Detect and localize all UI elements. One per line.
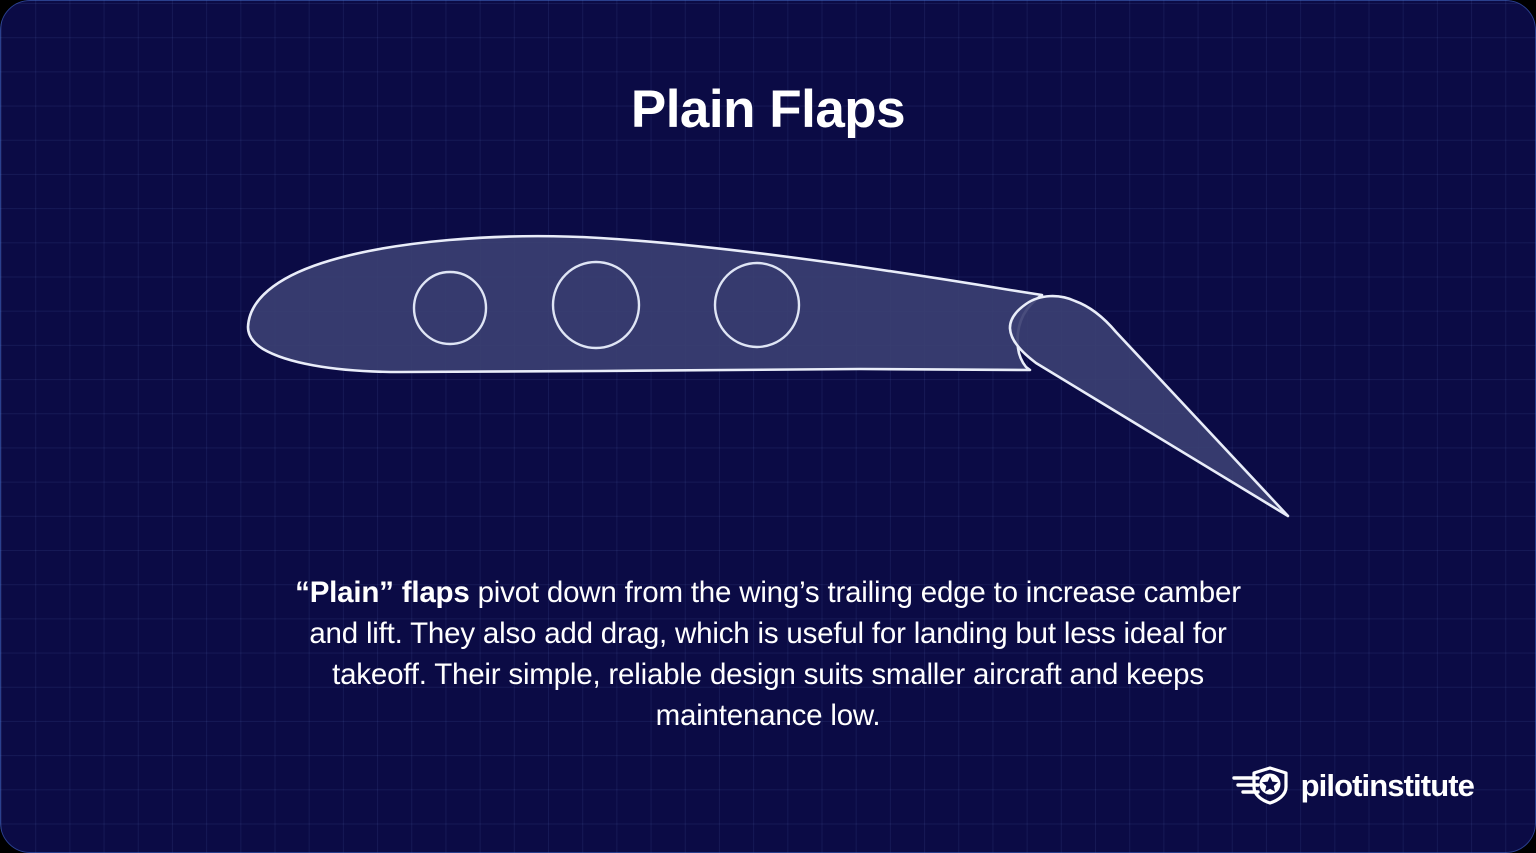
description-text: “Plain” flaps pivot down from the wing’s… [268,572,1268,736]
lightening-hole-2 [553,262,639,348]
lightening-hole-3 [715,263,799,347]
brand-wordmark: pilotinstitute [1301,770,1474,801]
wing-airfoil-body [248,236,1042,372]
brand-logo: pilotinstitute [1232,765,1474,805]
lightening-hole-1 [414,272,486,344]
description-lead: “Plain” flaps [295,576,469,609]
page-title: Plain Flaps [0,82,1536,138]
flap-surface [1010,296,1288,516]
winged-shield-star-icon [1232,765,1290,805]
infographic-card: Plain Flaps “Plain” flaps pivot down fro… [0,0,1536,853]
